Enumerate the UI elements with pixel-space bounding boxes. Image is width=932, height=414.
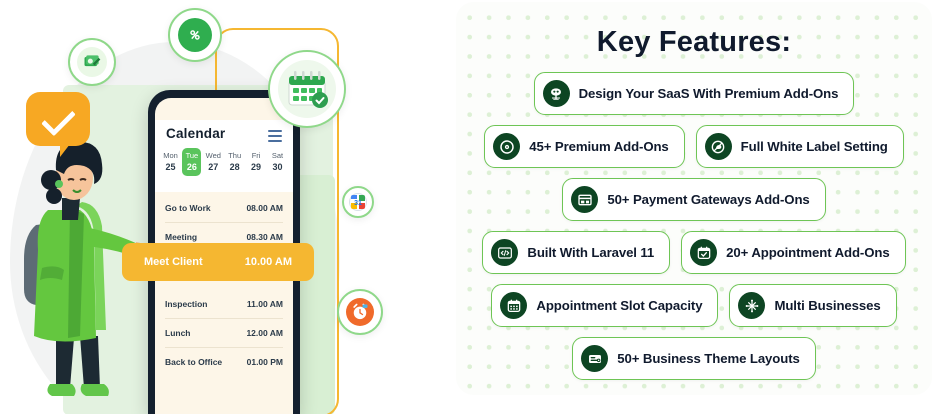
code-icon: [491, 239, 518, 266]
multi-business-icon: [738, 292, 765, 319]
calendar-day-selected[interactable]: Tue 26: [182, 148, 201, 176]
day-date: 30: [268, 161, 287, 174]
feature-pill-label: Multi Businesses: [774, 298, 880, 313]
key-features-panel: Key Features: Design Y: [456, 2, 932, 395]
calendar-day[interactable]: Fri 29: [247, 148, 266, 176]
feature-row: 45+ Premium Add-Ons Full White Label Set…: [456, 125, 932, 168]
discount-percent-icon: [168, 8, 222, 62]
feature-pill-label: Appointment Slot Capacity: [536, 298, 702, 313]
calendar-day[interactable]: Mon 25: [161, 148, 180, 176]
day-date: 26: [182, 161, 201, 174]
saas-cloud-icon: [543, 80, 570, 107]
day-name: Fri: [247, 150, 266, 161]
schedule-row[interactable]: Inspection 11.00 AM: [165, 290, 283, 319]
payment-gateway-icon: [571, 186, 598, 213]
feature-pill-rows: Design Your SaaS With Premium Add-Ons 45…: [456, 72, 932, 390]
day-date: 28: [225, 161, 244, 174]
feature-pill-premium-addons[interactable]: 45+ Premium Add-Ons: [484, 125, 684, 168]
svg-text:31: 31: [354, 200, 362, 207]
palette-brush-icon: [68, 38, 116, 86]
day-name: Thu: [225, 150, 244, 161]
schedule-title: Back to Office: [165, 357, 222, 367]
feature-row: Built With Laravel 11 20+ Appointment Ad…: [456, 231, 932, 274]
feature-pill-appointment-addons[interactable]: 20+ Appointment Add-Ons: [681, 231, 905, 274]
calendar-check-icon: [268, 50, 346, 128]
day-date: 27: [204, 161, 223, 174]
alarm-clock-icon: [337, 289, 383, 335]
schedule-row[interactable]: Back to Office 01.00 PM: [165, 348, 283, 376]
feature-pill-label: 20+ Appointment Add-Ons: [726, 245, 889, 260]
schedule-time: 11.00 AM: [247, 299, 283, 309]
day-date: 25: [161, 161, 180, 174]
feature-row: Appointment Slot Capacity: [456, 284, 932, 327]
day-name: Wed: [204, 150, 223, 161]
schedule-time: 08.30 AM: [246, 232, 283, 242]
appointment-calendar-icon: [690, 239, 717, 266]
calendar-day-strip: Mon 25 Tue 26 Wed 27 Thu: [161, 148, 287, 176]
google-calendar-icon: 31: [342, 186, 374, 218]
feature-row: Design Your SaaS With Premium Add-Ons: [456, 72, 932, 115]
feature-pill-label: 50+ Business Theme Layouts: [617, 351, 799, 366]
hamburger-icon[interactable]: [268, 130, 282, 140]
calendar-day[interactable]: Sat 30: [268, 148, 287, 176]
schedule-time: 12.00 AM: [246, 328, 283, 338]
schedule-time: 10.00 AM: [245, 256, 292, 268]
schedule-row-highlighted[interactable]: Meet Client 10.00 AM: [122, 243, 314, 281]
calendar-day[interactable]: Wed 27: [204, 148, 223, 176]
schedule-title: Inspection: [165, 299, 208, 309]
check-mark-icon: [26, 92, 90, 146]
feature-pill-design-saas[interactable]: Design Your SaaS With Premium Add-Ons: [534, 72, 855, 115]
feature-pill-label: Built With Laravel 11: [527, 245, 654, 260]
feature-pill-label: 50+ Payment Gateways Add-Ons: [607, 192, 809, 207]
theme-card-icon: [581, 345, 608, 372]
schedule-time: 01.00 PM: [247, 357, 283, 367]
page-title: Key Features:: [456, 26, 932, 59]
feature-row: 50+ Business Theme Layouts: [456, 337, 932, 380]
schedule-list: Go to Work 08.00 AM Meeting 08.30 AM Ins…: [155, 194, 293, 376]
schedule-title: Meet Client: [144, 256, 203, 268]
day-date: 29: [247, 161, 266, 174]
schedule-time: 08.00 AM: [246, 203, 283, 213]
day-name: Mon: [161, 150, 180, 161]
calendar-day[interactable]: Thu 28: [225, 148, 244, 176]
feature-pill-laravel[interactable]: Built With Laravel 11: [482, 231, 670, 274]
calendar-slot-icon: [500, 292, 527, 319]
feature-pill-label: Full White Label Setting: [741, 139, 888, 154]
schedule-title: Lunch: [165, 328, 191, 338]
feature-pill-label: Design Your SaaS With Premium Add-Ons: [579, 86, 839, 101]
schedule-row[interactable]: Go to Work 08.00 AM: [165, 194, 283, 223]
feature-pill-theme-layouts[interactable]: 50+ Business Theme Layouts: [572, 337, 815, 380]
target-icon: [493, 133, 520, 160]
feature-pill-label: 45+ Premium Add-Ons: [529, 139, 668, 154]
feature-pill-multi-businesses[interactable]: Multi Businesses: [729, 284, 896, 327]
schedule-title: Meeting: [165, 232, 197, 242]
illustration-area: Calendar Mon 25 Tue 26 Wed 27: [0, 0, 456, 414]
calendar-title: Calendar: [166, 126, 225, 141]
calendar-header: Calendar Mon 25 Tue 26 Wed 27: [155, 120, 293, 192]
feature-row: 50+ Payment Gateways Add-Ons: [456, 178, 932, 221]
white-label-icon: [705, 133, 732, 160]
day-name: Tue: [182, 150, 201, 161]
schedule-title: Go to Work: [165, 203, 211, 213]
feature-pill-slot-capacity[interactable]: Appointment Slot Capacity: [491, 284, 718, 327]
day-name: Sat: [268, 150, 287, 161]
feature-banner: Calendar Mon 25 Tue 26 Wed 27: [0, 0, 932, 414]
feature-pill-white-label[interactable]: Full White Label Setting: [696, 125, 904, 168]
schedule-row[interactable]: Lunch 12.00 AM: [165, 319, 283, 348]
feature-pill-payment-gateways[interactable]: 50+ Payment Gateways Add-Ons: [562, 178, 825, 221]
